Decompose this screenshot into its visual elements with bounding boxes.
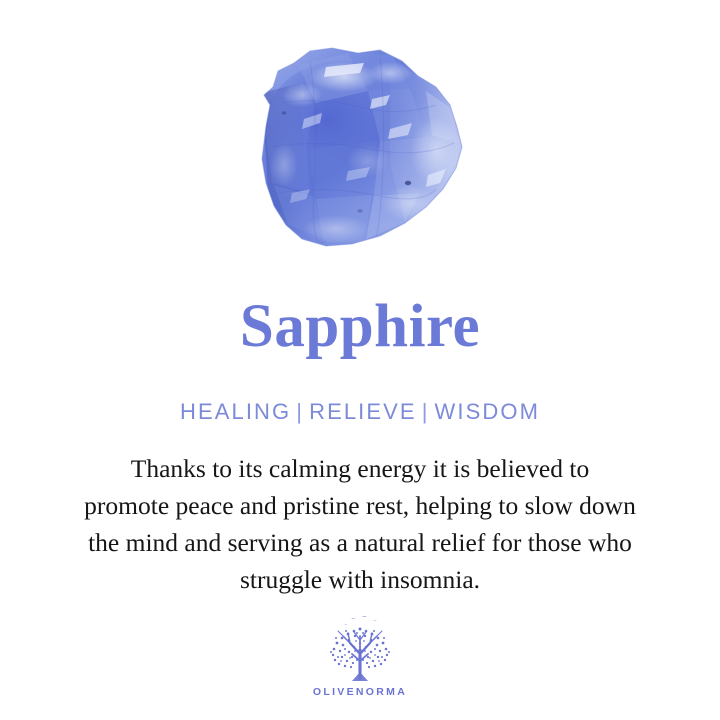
keyword-separator-2: | bbox=[417, 399, 435, 424]
keyword-relieve: RELIEVE bbox=[309, 399, 417, 424]
stone-facets bbox=[262, 53, 462, 243]
keyword-healing: HEALING bbox=[180, 399, 291, 424]
gemstone-image-container bbox=[0, 30, 720, 270]
description-line: the mind and serving as a natural relief… bbox=[22, 524, 698, 561]
description-text: Thanks to its calming energy it is belie… bbox=[22, 450, 698, 598]
gemstone-title: Sapphire bbox=[0, 296, 720, 357]
tree-of-life-icon bbox=[321, 614, 399, 684]
brand-logo: OLIVENORMA bbox=[0, 614, 720, 698]
description-line: Thanks to its calming energy it is belie… bbox=[22, 450, 698, 487]
raw-sapphire-crystal-image bbox=[240, 43, 480, 258]
sapphire-info-card: Sapphire HEALING|RELIEVE|WISDOM Thanks t… bbox=[0, 0, 720, 720]
keyword-wisdom: WISDOM bbox=[435, 399, 540, 424]
description-line: struggle with insomnia. bbox=[22, 561, 698, 598]
keyword-subtitle: HEALING|RELIEVE|WISDOM bbox=[0, 401, 720, 423]
brand-wordmark: OLIVENORMA bbox=[313, 687, 407, 698]
keyword-separator-1: | bbox=[291, 399, 309, 424]
description-line: promote peace and pristine rest, helping… bbox=[22, 487, 698, 524]
